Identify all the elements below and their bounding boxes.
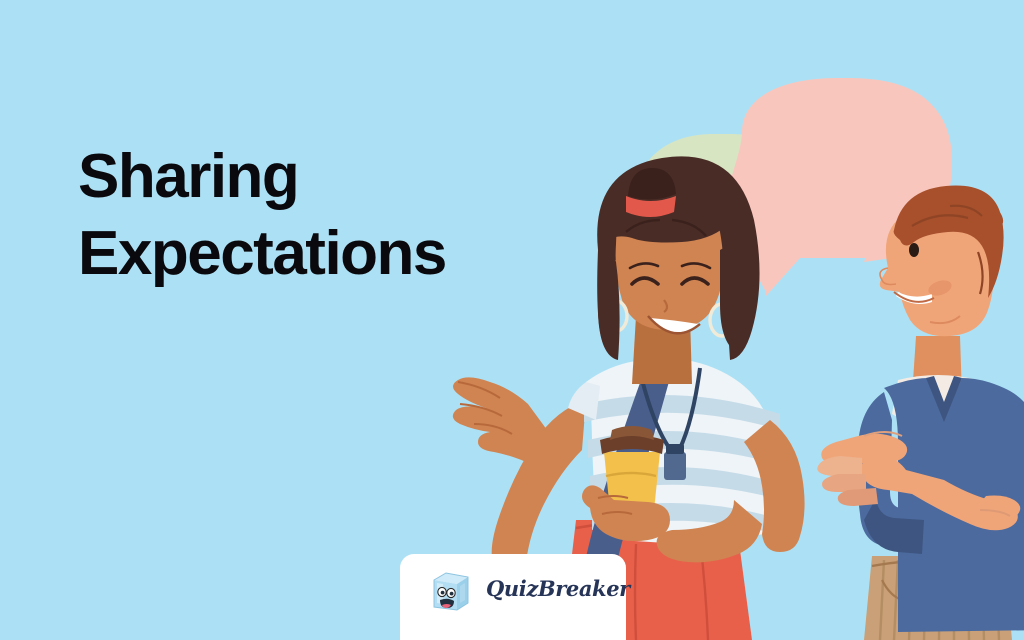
promo-banner: Sharing Expectations QuizBreaker — [0, 0, 1024, 640]
ice-cube-face-icon — [430, 570, 472, 614]
brand-logo-card: QuizBreaker — [400, 554, 626, 640]
people-illustration — [0, 0, 1024, 640]
man-head — [880, 186, 1004, 337]
man-character — [817, 186, 1024, 640]
woman-hand-gesture — [453, 377, 557, 467]
woman-head — [597, 156, 759, 360]
brand-name: QuizBreaker — [486, 576, 630, 601]
